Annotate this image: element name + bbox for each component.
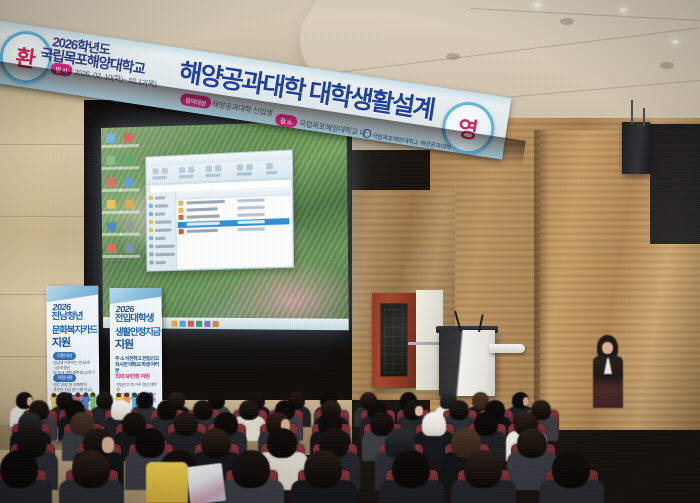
file-type-icon [179,229,184,234]
file-name [187,214,220,218]
podium-side-shelf [489,344,525,353]
nav-pane-item[interactable] [149,211,173,217]
hanging-loudspeaker [622,122,650,174]
side-door[interactable] [372,293,416,388]
nav-item-icon [149,220,153,224]
ceiling-light [620,8,627,12]
file-type-icon [178,208,183,213]
nav-item-label [155,245,174,248]
nav-pane-item[interactable] [149,195,173,201]
audience-member-head [474,412,498,436]
nav-item-icon [149,244,153,248]
banner1-heading3: 지원 [52,334,70,350]
banner2-highlight: 최대 60만원 지원 [115,372,150,380]
nav-item-label [155,220,171,223]
audience-member-head [392,450,430,488]
desktop-icon-label [120,188,140,191]
nav-item-icon [149,204,153,208]
nav-pane-item[interactable] [149,219,173,225]
audience-member-head [232,450,270,488]
file-type-icon [178,201,183,206]
audience-member-head [201,428,231,458]
nav-item-label [155,204,168,207]
browser-icon[interactable] [180,321,186,327]
audience-yellow-bag [146,462,188,503]
banner1-heading1: 전남청년 [51,312,82,322]
audience-handout-paper [186,463,226,503]
file-name [186,200,224,205]
speaker-mount-rod [631,100,633,124]
desktop-icon-label [120,210,140,213]
ceiling-vent [560,18,574,25]
navigation-pane[interactable] [147,192,177,270]
file-date [237,198,264,202]
nav-pane-item[interactable] [149,203,173,209]
speaker-mount-rod [643,108,645,126]
banner-top-graphic [110,288,162,304]
zip-icon[interactable] [125,199,134,208]
audience-member-head [136,392,153,409]
banner2-heading1: 전입대학생 [115,314,154,324]
media-icon[interactable] [213,321,219,327]
nav-pane-item[interactable] [149,227,173,233]
audience-member-head [157,400,177,420]
ceiling-light [672,40,679,44]
audience-member-head [304,450,342,488]
file-type-icon [178,215,183,220]
nav-item-icon [149,212,153,216]
presenter-face [602,342,613,354]
nav-item-label [155,196,165,199]
mail-icon[interactable] [204,321,210,327]
audience-member-head [464,450,502,488]
ppt-icon[interactable] [196,321,202,327]
nav-pane-item[interactable] [149,260,173,266]
file-date [237,220,264,224]
file-explorer-window[interactable] [145,149,294,271]
nav-item-icon [149,228,153,232]
audience-member-head [449,400,469,420]
nav-item-label [155,212,165,215]
notes-icon[interactable] [125,222,134,231]
audience-member-head [267,428,297,458]
nav-item-label [155,237,165,240]
audience-member-head [552,450,590,488]
banner2-heading3: 지원 [115,336,133,352]
file-name [187,207,218,211]
desktop-icon-label [119,166,139,169]
ceiling-light [534,3,541,7]
file-name [187,222,220,226]
audience-member-face [523,397,530,406]
hwp-icon[interactable] [188,321,194,327]
wall-corner-shadow [534,130,550,430]
desktop-icon-label [120,233,140,236]
explorer-icon[interactable] [171,321,177,327]
door-glass-panel [380,303,408,377]
desktop-icon-label [119,144,139,148]
word-doc-icon[interactable] [106,178,115,187]
audience-member-head [422,412,446,436]
nav-item-label [156,261,166,264]
ceiling-vent [660,62,674,69]
nav-item-icon [149,260,153,264]
nav-item-icon [149,196,153,200]
auditorium-photo: 환 영 2026학년도 국립목포해양대학교 해양공과대학 대학생활설계 일 시 … [0,0,700,503]
audience-member-head [239,400,259,420]
nav-pane-item[interactable] [149,244,173,250]
nav-item-label [155,253,174,256]
audience-member-head [72,450,110,488]
recycle-bin-icon[interactable] [106,156,115,165]
audience-member-head [135,428,165,458]
banner1-sec2-label: 지원내용 [53,374,76,382]
nav-pane-item[interactable] [149,252,173,258]
settings-icon[interactable] [125,244,134,253]
file-date [237,213,264,217]
audience-member-head [174,412,198,436]
chrome-icon[interactable] [107,244,116,253]
podium[interactable] [439,330,495,396]
file-name [187,229,218,233]
audience-member-head [517,428,547,458]
file-list-pane[interactable] [176,187,292,269]
nav-item-icon [149,236,153,240]
audience-member-face [102,437,114,453]
banner-top-graphic [46,286,98,303]
file-date [238,227,265,231]
hwp-doc-icon[interactable] [107,222,116,231]
media-icon[interactable] [124,177,133,186]
desktop-icon-label [120,255,140,258]
banner1-sec1-label: 지원대상 [53,352,76,360]
presenter [588,336,628,408]
nav-pane-item[interactable] [149,235,173,241]
folder-icon[interactable] [107,200,116,209]
wall-recess-dark [650,124,700,244]
excel-icon[interactable] [124,155,133,164]
audience-member-head [0,450,38,488]
file-date [237,206,264,210]
nav-item-icon [149,252,153,256]
file-type-icon [179,222,184,227]
nav-item-label [155,228,171,231]
